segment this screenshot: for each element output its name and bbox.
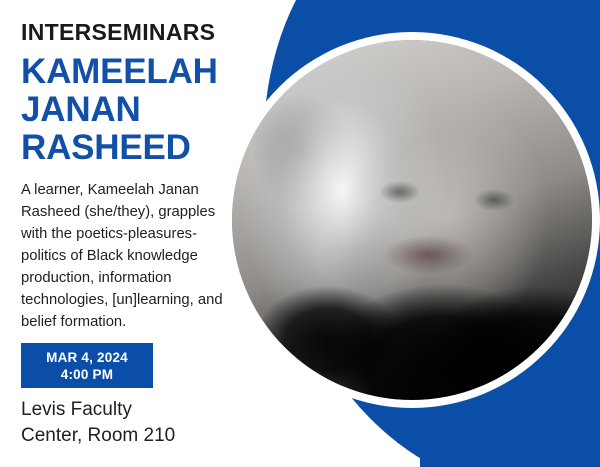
headline-line-3: RASHEED: [21, 129, 237, 167]
portrait-image: [232, 40, 592, 400]
speaker-bio-text: A learner, Kameelah Janan Rasheed (she/t…: [21, 179, 233, 333]
event-time: 4:00 PM: [61, 366, 113, 383]
venue-line-2: Center, Room 210: [21, 423, 237, 449]
headline-line-2: JANAN: [21, 91, 237, 129]
portrait-photo: [232, 40, 592, 400]
poster-text-column: INTERSEMINARS KAMEELAH JANAN RASHEED A l…: [21, 0, 237, 449]
series-kicker: INTERSEMINARS: [21, 20, 237, 45]
speaker-name-heading: KAMEELAH JANAN RASHEED: [21, 53, 237, 167]
event-date: MAR 4, 2024: [46, 349, 128, 366]
event-poster: INTERSEMINARS KAMEELAH JANAN RASHEED A l…: [0, 0, 600, 467]
venue-line-1: Levis Faculty: [21, 397, 237, 423]
headline-line-1: KAMEELAH: [21, 53, 237, 91]
event-venue: Levis Faculty Center, Room 210: [21, 397, 237, 449]
event-date-badge: MAR 4, 2024 4:00 PM: [21, 343, 153, 388]
